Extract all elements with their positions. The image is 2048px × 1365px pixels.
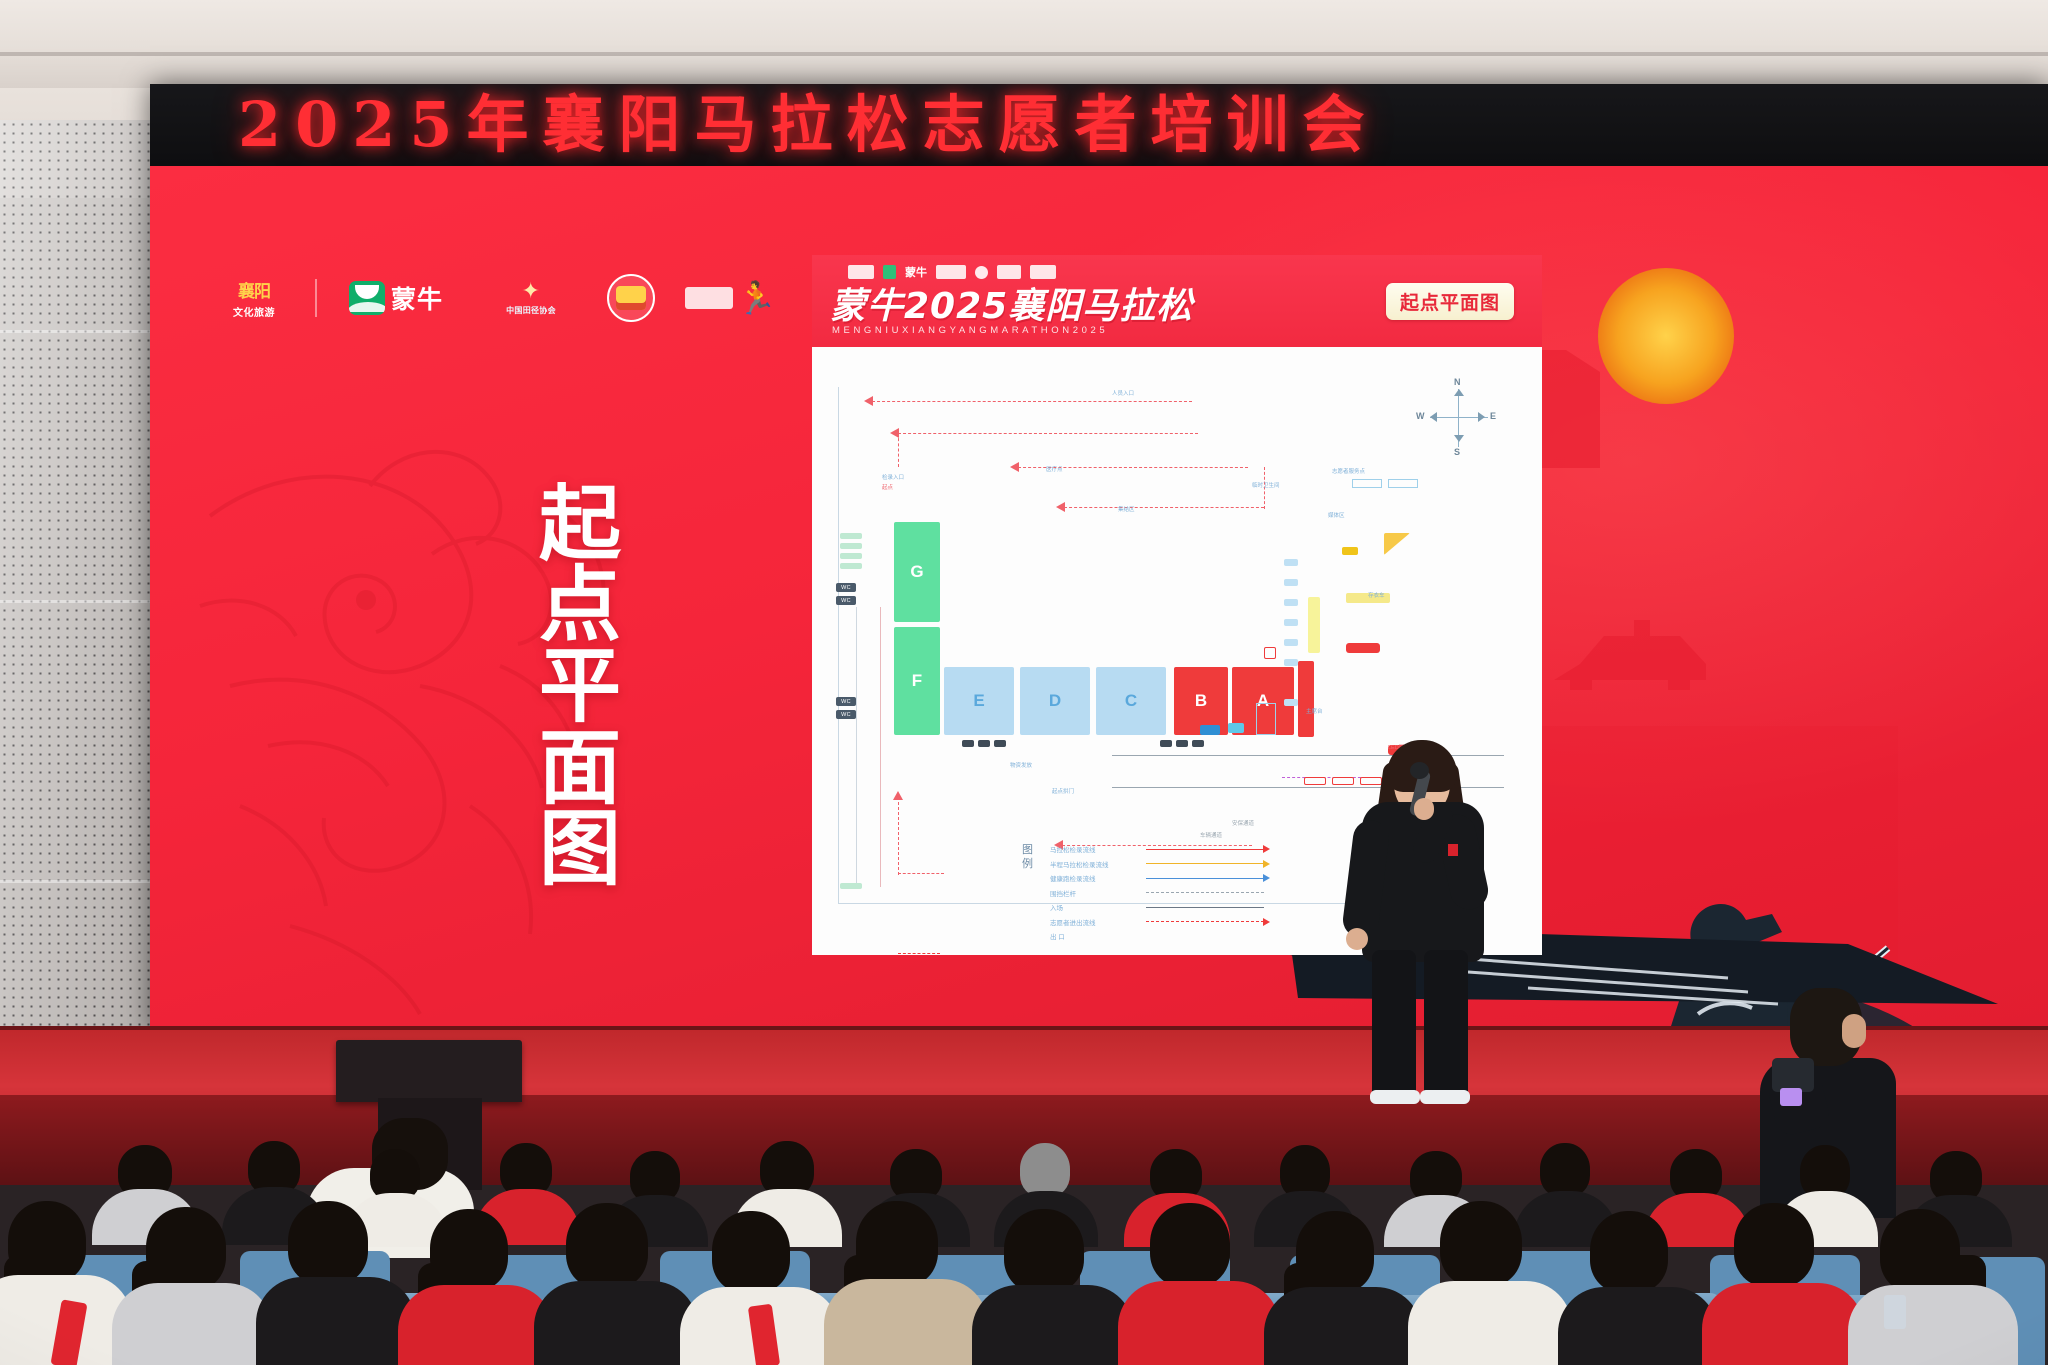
zone-block-g: G xyxy=(894,522,940,622)
flow-line-footer xyxy=(898,953,940,954)
audience-shoulders xyxy=(1558,1287,1718,1365)
map-annotation-3: 医疗点 xyxy=(1046,465,1063,473)
map-annotation-2: 起点 xyxy=(882,483,893,491)
legend-row: 入场 xyxy=(1050,902,1274,912)
legend-item-label: 入场 xyxy=(1050,902,1136,912)
flow-arrow-bottom-up xyxy=(893,791,903,800)
guide-line-vertical xyxy=(856,607,857,887)
presenter-leg-right xyxy=(1424,950,1468,1096)
presenter-lapel-badge xyxy=(1448,844,1458,856)
legend-row: 出 口 xyxy=(1050,931,1274,941)
video-camera-icon xyxy=(1772,1058,1814,1092)
banner-bar: 2025年襄阳马拉松志愿者培训会 xyxy=(150,84,2048,166)
map-annotation-9: 起点拱门 xyxy=(1052,787,1074,795)
zone-block-c: C xyxy=(1096,667,1166,735)
panel-seam xyxy=(0,880,170,883)
service-chip xyxy=(1284,639,1298,646)
camera-screen xyxy=(1780,1088,1802,1106)
flow-line-bottom-left xyxy=(898,873,944,874)
microphone-head-icon xyxy=(1410,762,1429,779)
audience-head xyxy=(1590,1211,1668,1293)
legend-row: 半程马拉松检录流线 xyxy=(1050,859,1274,869)
compass-arrow-n xyxy=(1454,389,1464,396)
zone-label-d: D xyxy=(1049,691,1061,711)
vertical-title-char-4: 面 xyxy=(539,728,621,809)
vertical-title-char-1: 起 xyxy=(539,484,621,565)
map-legend: 图例 马拉松检录流线 半程马拉松检录流线 xyxy=(1022,844,1274,941)
athletics-logo-sub: 中国田径协会 xyxy=(506,305,556,316)
audience-phone[interactable] xyxy=(1884,1295,1906,1329)
zone-label-f: F xyxy=(912,671,922,691)
audience-head xyxy=(1150,1203,1230,1287)
led-wall-content: 襄阳 文化旅游 蒙牛 ✦ 中国田径协会 xyxy=(150,166,2048,1034)
flow-arrow-mid1 xyxy=(1010,462,1019,472)
guide-line-vertical-2 xyxy=(880,607,881,887)
mengniu-logo: 蒙牛 xyxy=(332,274,460,321)
barrier-chip xyxy=(1192,740,1204,747)
wc-marker-1: WC xyxy=(836,583,856,592)
barrier-chip xyxy=(1160,740,1172,747)
audience-shoulders xyxy=(1408,1281,1572,1365)
audience-shoulders xyxy=(256,1277,416,1365)
videographer-face xyxy=(1842,1014,1866,1048)
compass-west-label: W xyxy=(1416,411,1425,421)
sun-shape xyxy=(1598,268,1734,404)
vertical-title-char-2: 点 xyxy=(539,565,621,646)
seal-ring-icon xyxy=(607,274,655,322)
wc-marker-3: WC xyxy=(836,697,856,706)
tent-chip xyxy=(1384,533,1410,555)
medical-chip xyxy=(1346,643,1380,653)
service-chip xyxy=(1284,559,1298,566)
legend-item-label: 出 口 xyxy=(1050,931,1136,941)
legend-title: 图例 xyxy=(1022,844,1038,941)
compass-east-label: E xyxy=(1490,411,1496,421)
vehicle-chip xyxy=(1304,777,1326,785)
legend-item-label: 马拉松检录流线 xyxy=(1050,844,1136,854)
legend-item-swatch xyxy=(1146,846,1274,852)
audience-shoulders xyxy=(534,1281,698,1365)
barrier-chip xyxy=(994,740,1006,747)
audience-head xyxy=(1734,1203,1814,1287)
map-annotation-12: 车辆通道 xyxy=(1200,831,1222,839)
zone-label-g: G xyxy=(910,562,923,582)
event-banner-title: 2025年襄阳马拉松志愿者培训会 xyxy=(238,84,1379,166)
sponsor-logo-strip: 襄阳 文化旅游 蒙牛 ✦ 中国田径协会 xyxy=(208,274,898,321)
flow-arrow-top-left xyxy=(864,396,873,406)
xiangyang-culture-logo: 襄阳 文化旅游 xyxy=(208,274,300,321)
audience-seating-area xyxy=(0,1105,2048,1365)
presenter-shoe-left xyxy=(1370,1090,1420,1104)
map-annotation-4: 集结区 xyxy=(1118,505,1135,513)
slide-latin-subtitle: MENGNIUXIANGYANGMARATHON2025 xyxy=(832,325,1108,336)
legend-item-label: 志愿者进出流线 xyxy=(1050,917,1136,927)
flow-line-top xyxy=(872,401,1192,402)
audience-shoulders xyxy=(1702,1283,1864,1365)
xiangyang-logo-bottom: 文化旅游 xyxy=(233,304,275,319)
audience-shoulders xyxy=(1264,1287,1422,1365)
corridor-chip xyxy=(1308,597,1320,653)
barrier-chip xyxy=(978,740,990,747)
map-boundary-left xyxy=(838,387,839,903)
runner-logo: 🏃 xyxy=(675,274,787,321)
audience-shoulders xyxy=(972,1285,1134,1365)
vertical-title-char-5: 图 xyxy=(539,809,621,890)
grid-box-chip xyxy=(1256,703,1276,735)
slide-vertical-title: 起 点 平 面 图 xyxy=(505,484,655,890)
facility-chip xyxy=(840,563,862,569)
legend-row: 马拉松检录流线 xyxy=(1050,844,1274,854)
service-chip xyxy=(1284,619,1298,626)
slide-header: 蒙牛 蒙牛2025襄阳马拉松 MENGNIUXIANGYANGMARATHON2… xyxy=(812,255,1542,347)
legend-row: 围挡栏杆 xyxy=(1050,888,1274,898)
presenter-shoe-right xyxy=(1420,1090,1470,1104)
flow-line-top2 xyxy=(898,433,1198,434)
slide-wordmark: 蒙牛2025襄阳马拉松 xyxy=(830,277,1193,329)
vertical-title-char-3: 平 xyxy=(539,646,621,727)
audience-shoulders xyxy=(824,1279,988,1365)
runner-figure-icon: 🏃 xyxy=(737,282,777,314)
facility-chip xyxy=(840,543,862,549)
zone-block-e: E xyxy=(944,667,1014,735)
flow-line-top2-drop xyxy=(898,433,899,467)
wc-marker-2: WC xyxy=(836,596,856,605)
zone-block-f: F xyxy=(894,627,940,735)
presenter-legs xyxy=(1372,950,1472,1100)
zone-block-d: D xyxy=(1020,667,1090,735)
audience-head xyxy=(1004,1209,1084,1293)
map-annotation-0: 人员入口 xyxy=(1112,389,1134,397)
audience-shoulders xyxy=(398,1285,554,1365)
presenter-with-microphone xyxy=(1332,740,1512,1120)
legend-item-swatch xyxy=(1146,875,1274,881)
facility-chip xyxy=(840,553,862,559)
barrier-chip xyxy=(1176,740,1188,747)
map-annotation-13: 存衣车 xyxy=(1368,591,1385,599)
info-box-chip xyxy=(1388,479,1418,488)
compass-arrow-s xyxy=(1454,435,1464,442)
podium-top xyxy=(336,1040,522,1102)
panel-seam xyxy=(0,330,170,333)
audience-shoulders xyxy=(1848,1285,2018,1365)
info-box-chip xyxy=(1352,479,1382,488)
compass-rose-icon: N S E W xyxy=(1422,381,1496,455)
barrier-chip xyxy=(962,740,974,747)
slide-badge: 起点平面图 xyxy=(1386,283,1514,320)
legend-rows: 马拉松检录流线 半程马拉松检录流线 xyxy=(1050,844,1274,941)
acoustic-panel-shading xyxy=(0,120,170,1120)
legend-item-swatch xyxy=(1146,861,1274,867)
map-annotation-6: 媒体区 xyxy=(1328,511,1345,519)
athletics-star-icon: ✦ xyxy=(522,280,541,302)
map-annotation-10: 物资发放 xyxy=(1010,761,1032,769)
service-chip xyxy=(1284,659,1298,666)
water-chip xyxy=(1228,723,1244,733)
legend-item-swatch xyxy=(1146,933,1274,939)
compass-north-label: N xyxy=(1454,377,1461,387)
toilet-icon-chip xyxy=(1264,647,1276,659)
service-chip xyxy=(1284,579,1298,586)
ceiling xyxy=(0,0,2048,88)
legend-row: 志愿者进出流线 xyxy=(1050,917,1274,927)
start-gate-block xyxy=(1298,661,1314,737)
audience-head xyxy=(566,1203,648,1289)
runner-logo-box xyxy=(685,287,733,309)
map-annotation-14: 志愿者服务点 xyxy=(1332,467,1365,475)
audience-shoulders xyxy=(112,1283,272,1365)
athletics-association-logo: ✦ 中国田径协会 xyxy=(475,274,587,321)
mengniu-mark-icon xyxy=(349,281,385,315)
screenshot-root: 2025年襄阳马拉松志愿者培训会 xyxy=(0,0,2048,1365)
seal-emblem-logo xyxy=(602,274,660,321)
wc-marker-4: WC xyxy=(836,710,856,719)
service-chip xyxy=(1284,699,1298,706)
legend-item-swatch xyxy=(1146,919,1274,925)
audience-head xyxy=(1540,1143,1590,1197)
facility-chip xyxy=(840,533,862,539)
map-annotation-11: 安保通道 xyxy=(1232,819,1254,827)
audience-head xyxy=(712,1211,790,1293)
water-chip-2 xyxy=(1200,725,1220,735)
flow-line-bottom-left-up xyxy=(898,797,899,875)
zone-label-c: C xyxy=(1125,691,1137,711)
legend-item-swatch xyxy=(1146,890,1274,896)
audience-head xyxy=(288,1201,368,1285)
led-video-wall: 2025年襄阳马拉松志愿者培训会 xyxy=(150,84,2048,1034)
legend-item-swatch xyxy=(1146,904,1274,910)
presenter-hand-holding-mic xyxy=(1414,798,1434,820)
map-annotation-1: 检录入口 xyxy=(882,473,904,481)
legend-item-label: 健康跑检录流线 xyxy=(1050,873,1136,883)
presenter-left-hand xyxy=(1346,928,1368,950)
logo-divider xyxy=(315,279,317,317)
zone-label-b: B xyxy=(1195,691,1207,711)
map-annotation-5: 临时卫生间 xyxy=(1252,481,1280,489)
flow-line-mid2 xyxy=(1064,507,1264,508)
legend-row: 健康跑检录流线 xyxy=(1050,873,1274,883)
audience-head xyxy=(1440,1201,1522,1287)
seal-inner-icon xyxy=(616,286,646,310)
legend-item-label: 半程马拉松检录流线 xyxy=(1050,859,1136,869)
mengniu-logo-text: 蒙牛 xyxy=(391,280,443,316)
zone-label-e: E xyxy=(973,691,984,711)
flow-arrow-mid2 xyxy=(1056,502,1065,512)
compass-arrow-e xyxy=(1478,412,1485,422)
compass-south-label: S xyxy=(1454,447,1460,457)
legend-item-label: 围挡栏杆 xyxy=(1050,888,1136,898)
panel-seam xyxy=(0,600,170,603)
marker-chip xyxy=(1342,547,1358,555)
service-chip xyxy=(1284,599,1298,606)
facility-chip xyxy=(840,883,862,889)
audience-head-grey-hair xyxy=(1020,1143,1070,1197)
compass-arrow-w xyxy=(1430,412,1437,422)
audience-shoulders xyxy=(1118,1281,1280,1365)
presenter-leg-left xyxy=(1372,950,1416,1096)
map-annotation-8: 主席台 xyxy=(1306,707,1323,715)
xiangyang-logo-top: 襄阳 xyxy=(238,277,270,302)
